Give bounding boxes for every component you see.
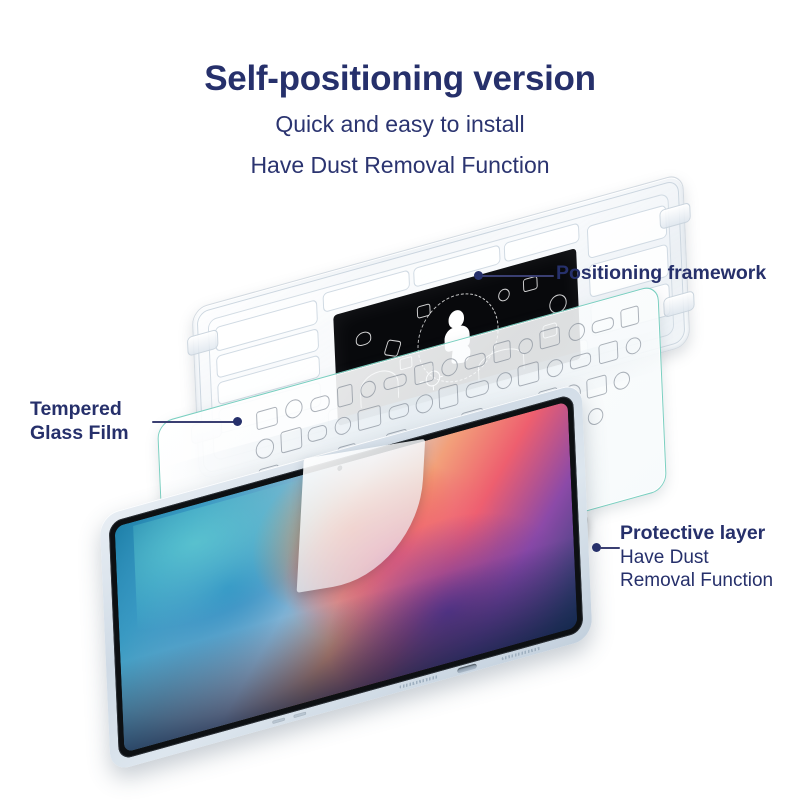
leader-line-protective-layer [600,547,620,549]
callout-title: Protective layer [620,522,773,546]
panel-dot-icon [498,287,510,303]
callout-positioning-framework: Positioning framework [556,262,766,286]
callout-title-line-2: Glass Film [30,422,129,446]
leader-line-positioning-framework [482,275,554,277]
callout-sub-line-1: Have Dust [620,546,773,570]
callout-title-line-1: Tempered [30,398,129,422]
callout-title: Positioning framework [556,262,766,286]
panel-box-icon [523,275,538,292]
panel-square-icon [383,339,401,357]
callout-sub-line-2: Removal Function [620,569,773,593]
callout-tempered-glass-film: Tempered Glass Film [30,398,129,446]
infographic-canvas: Self-positioning version Quick and easy … [0,0,800,800]
leader-line-tempered-glass [152,421,236,423]
leader-dot-tempered-glass [233,417,242,426]
callout-protective-layer: Protective layer Have Dust Removal Funct… [620,522,773,593]
panel-cloud-icon [355,330,371,348]
